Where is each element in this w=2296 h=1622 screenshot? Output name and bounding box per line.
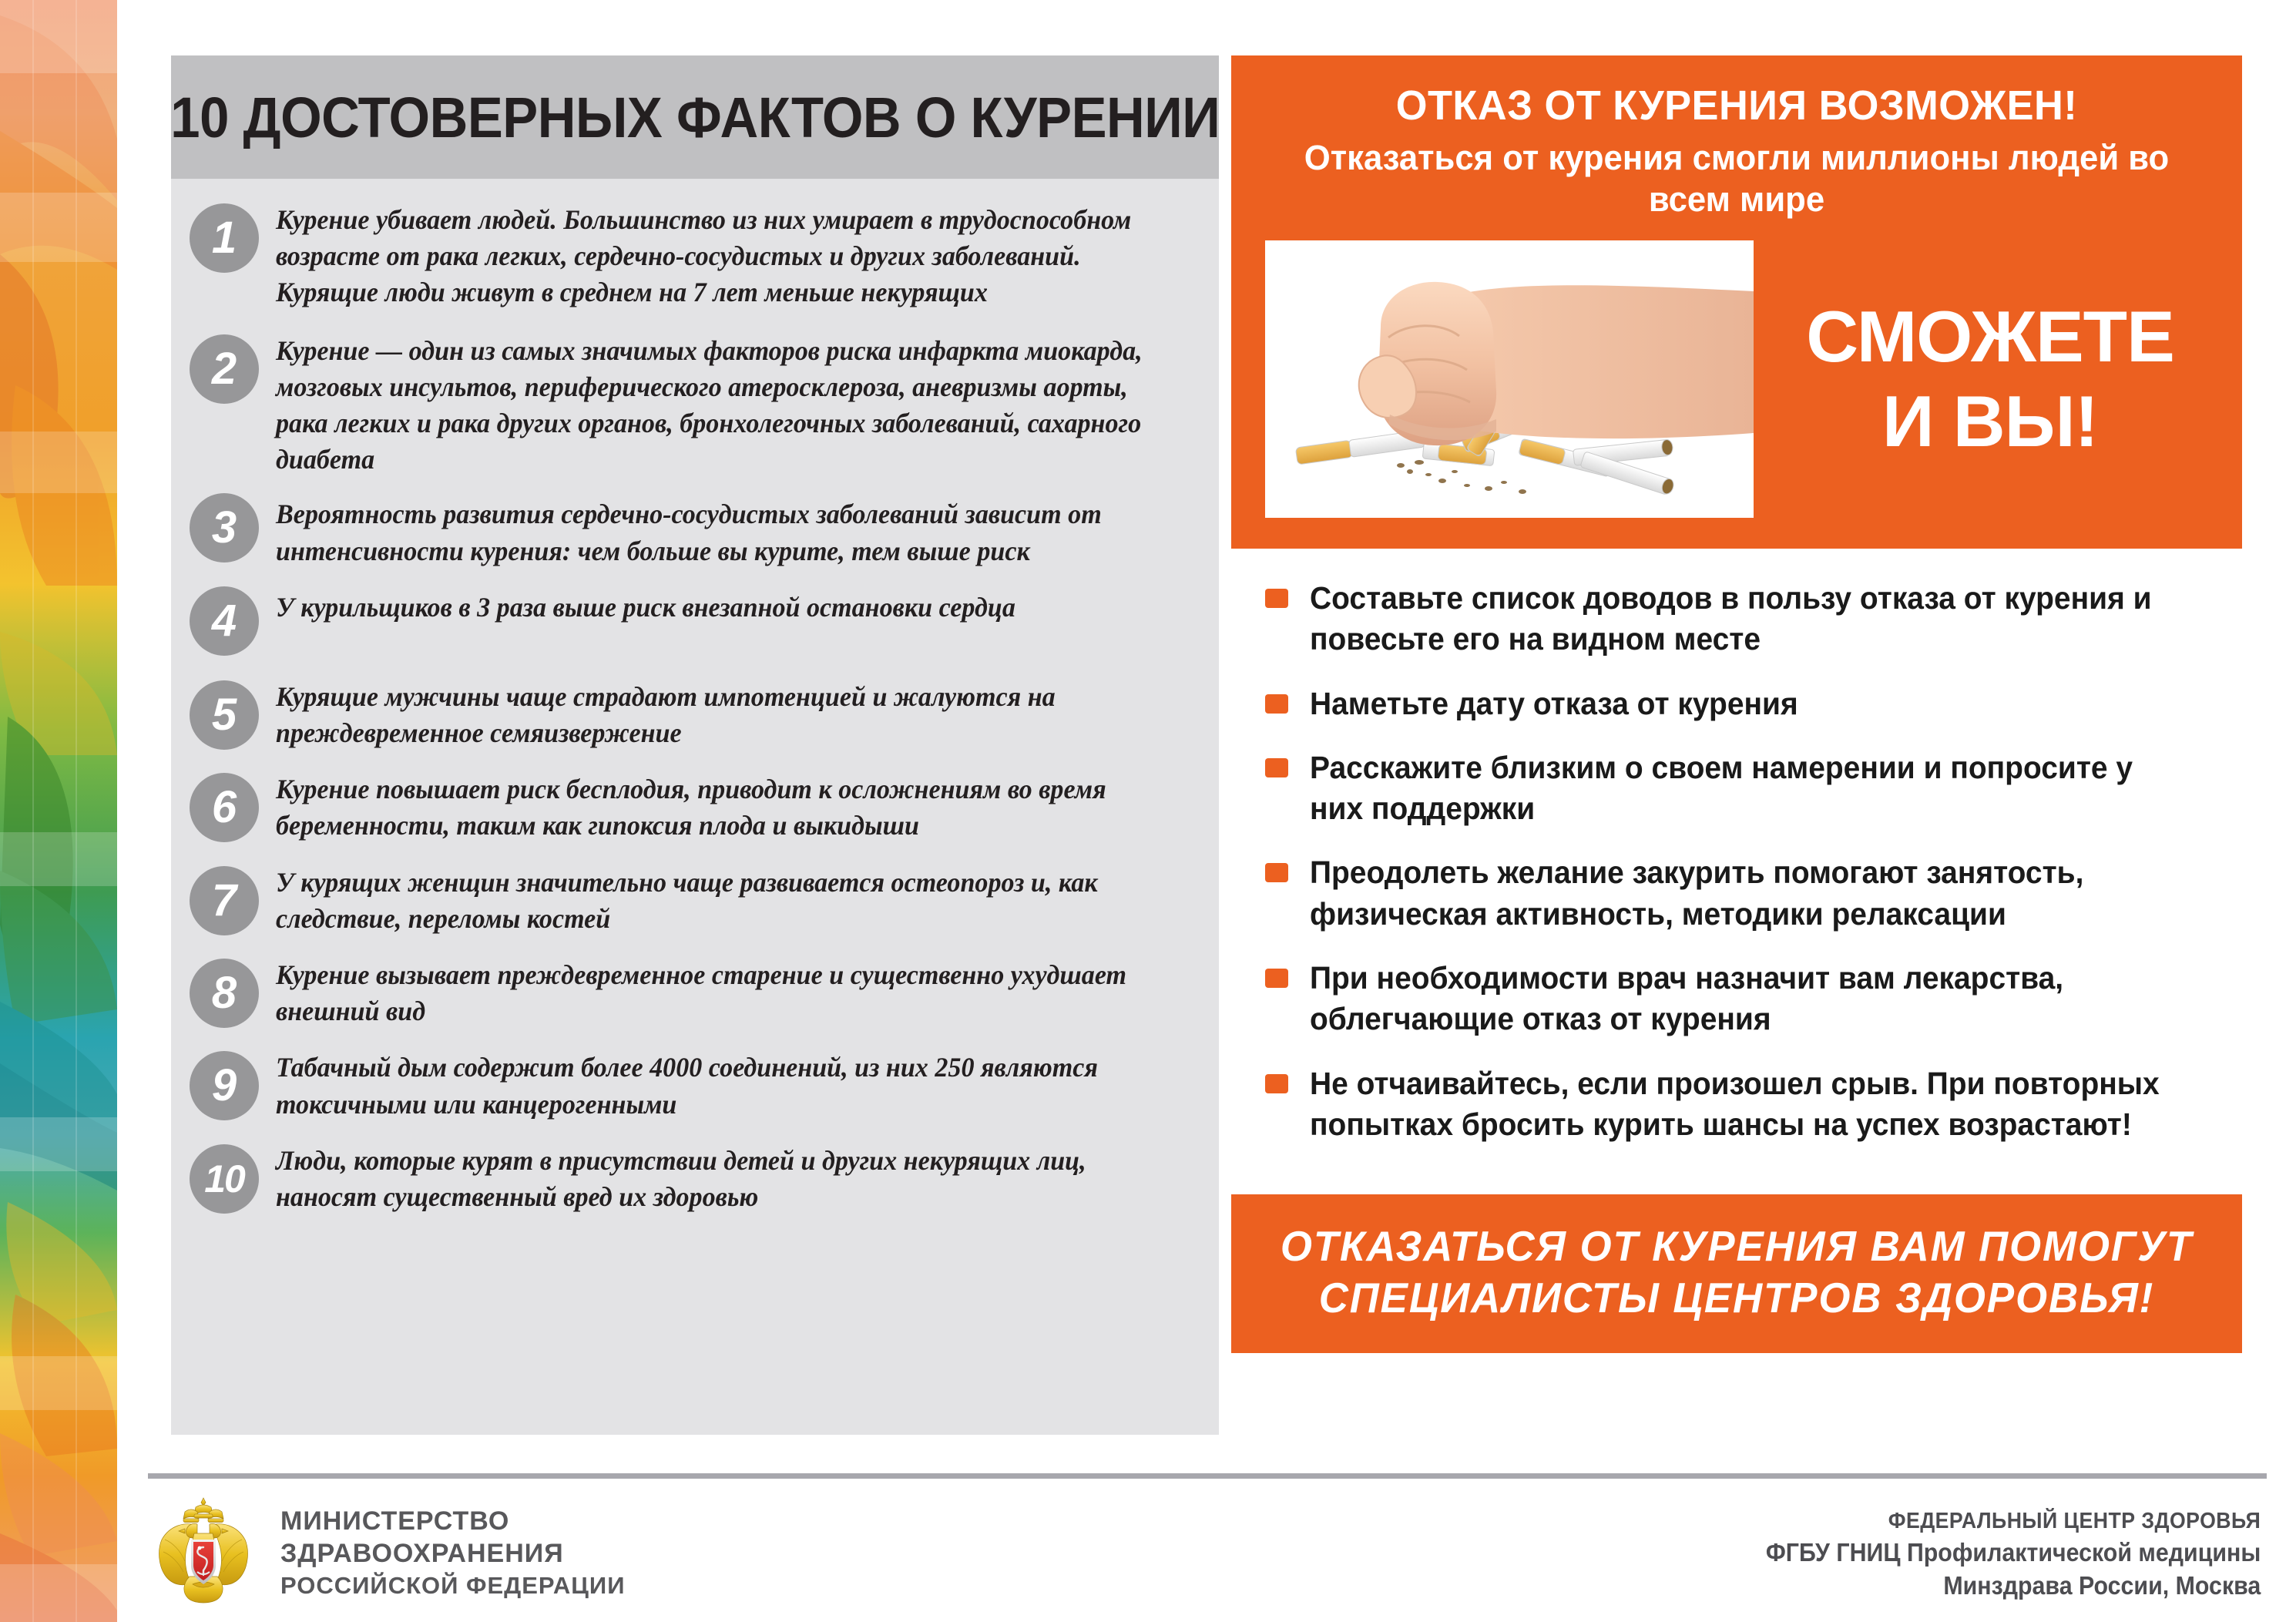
fact-text: У курильщиков в 3 раза выше риск внезапн…: [276, 586, 1147, 626]
fact-number-badge: 5: [190, 680, 259, 750]
fact-text: Курение вызывает преждевременное старени…: [276, 954, 1147, 1029]
fact-number-badge: 4: [190, 586, 259, 656]
center-line3: Минздрава России, Москва: [1766, 1570, 2261, 1603]
fact-number-badge: 2: [190, 334, 259, 404]
cta-line2: СПЕЦИАЛИСТЫ ЦЕНТРОВ ЗДОРОВЬЯ!: [1274, 1272, 2200, 1324]
hero-slogan-line1: СМОЖЕТЕ: [1806, 301, 2174, 373]
tips-list: Составьте список доводов в пользу отказа…: [1231, 549, 2242, 1187]
health-center-credit: ФЕДЕРАЛЬНЫЙ ЦЕНТР ЗДОРОВЬЯ ФГБУ ГНИЦ Про…: [1723, 1507, 2261, 1602]
fist-crushing-cigarettes-photo: [1265, 240, 1754, 518]
ministry-line1: МИНИСТЕРСТВО: [280, 1505, 625, 1538]
fact-number-badge: 7: [190, 866, 259, 935]
russian-coat-of-arms-icon: [154, 1495, 253, 1610]
fact-number-badge: 6: [190, 773, 259, 842]
tip-text: Наметьте дату отказа от курения: [1310, 683, 2173, 724]
fact-number-badge: 8: [190, 959, 259, 1028]
bullet-square-icon: [1265, 589, 1288, 608]
cta-banner: ОТКАЗАТЬСЯ ОТ КУРЕНИЯ ВАМ ПОМОГУТ СПЕЦИА…: [1231, 1194, 2242, 1353]
facts-panel-header: 10 ДОСТОВЕРНЫХ ФАКТОВ О КУРЕНИИ: [171, 55, 1219, 179]
hero-slogan: СМОЖЕТЕ И ВЫ!: [1754, 240, 2242, 518]
fact-item: 5 Курящие мужчины чаще страдают импотенц…: [190, 676, 1183, 751]
page-title: 10 ДОСТОВЕРНЫХ ФАКТОВ О КУРЕНИИ: [170, 85, 1220, 150]
quit-headline: ОТКАЗ ОТ КУРЕНИЯ ВОЗМОЖЕН!: [1247, 82, 2227, 129]
facts-list: 1 Курение убивает людей. Большинство из …: [171, 179, 1219, 1435]
fact-item: 6 Курение повышает риск бесплодия, приво…: [190, 768, 1183, 844]
fact-text: Люди, которые курят в присутствии детей …: [276, 1140, 1147, 1215]
center-line2: ФГБУ ГНИЦ Профилактической медицины: [1766, 1536, 2261, 1570]
bullet-square-icon: [1265, 694, 1288, 714]
fact-number-badge: 3: [190, 493, 259, 562]
fact-item: 10 Люди, которые курят в присутствии дет…: [190, 1140, 1183, 1215]
right-column: ОТКАЗ ОТ КУРЕНИЯ ВОЗМОЖЕН! Отказаться от…: [1231, 55, 2242, 1353]
fact-item: 8 Курение вызывает преждевременное старе…: [190, 954, 1183, 1029]
fact-text: Курение — один из самых значимых факторо…: [276, 330, 1147, 479]
tip-item: Наметьте дату отказа от курения: [1265, 683, 2219, 724]
tip-text: Расскажите близким о своем намерении и п…: [1310, 747, 2173, 830]
bullet-square-icon: [1265, 863, 1288, 882]
quit-subheadline: Отказаться от курения смогли миллионы лю…: [1247, 137, 2227, 220]
fact-text: У курящих женщин значительно чаще развив…: [276, 861, 1147, 937]
ministry-line3: РОССИЙСКОЙ ФЕДЕРАЦИИ: [280, 1570, 625, 1600]
footer: МИНИСТЕРСТВО ЗДРАВООХРАНЕНИЯ РОССИЙСКОЙ …: [117, 1495, 2296, 1622]
bullet-square-icon: [1265, 1074, 1288, 1093]
footer-divider: [148, 1473, 2267, 1479]
tip-item: Расскажите близким о своем намерении и п…: [1265, 747, 2219, 830]
center-line1: ФЕДЕРАЛЬНЫЙ ЦЕНТР ЗДОРОВЬЯ: [1766, 1507, 2261, 1536]
poster-page: 10 ДОСТОВЕРНЫХ ФАКТОВ О КУРЕНИИ 1 Курени…: [117, 0, 2296, 1622]
hero-slogan-line2: И ВЫ!: [1882, 385, 2098, 458]
fact-item: 2 Курение — один из самых значимых факто…: [190, 330, 1183, 479]
fact-text: Курение повышает риск бесплодия, приводи…: [276, 768, 1147, 844]
fact-text: Курящие мужчины чаще страдают импотенцие…: [276, 676, 1147, 751]
ministry-block: МИНИСТЕРСТВО ЗДРАВООХРАНЕНИЯ РОССИЙСКОЙ …: [154, 1495, 625, 1610]
tip-text: При необходимости врач назначит вам лека…: [1310, 958, 2173, 1040]
cta-line1: ОТКАЗАТЬСЯ ОТ КУРЕНИЯ ВАМ ПОМОГУТ: [1274, 1221, 2200, 1272]
hero-media: СМОЖЕТЕ И ВЫ!: [1231, 240, 2242, 518]
fact-item: 9 Табачный дым содержит более 4000 соеди…: [190, 1046, 1183, 1122]
decorative-edge-band: [0, 0, 117, 1622]
fact-item: 1 Курение убивает людей. Большинство из …: [190, 199, 1183, 311]
bullet-square-icon: [1265, 969, 1288, 988]
fact-number-badge: 9: [190, 1051, 259, 1120]
tip-text: Составьте список доводов в пользу отказа…: [1310, 578, 2173, 660]
fact-number-badge: 1: [190, 203, 259, 273]
fact-text: Вероятность развития сердечно-сосудистых…: [276, 493, 1147, 569]
fact-item: 7 У курящих женщин значительно чаще разв…: [190, 861, 1183, 937]
fact-item: 3 Вероятность развития сердечно-сосудист…: [190, 493, 1183, 569]
tip-text: Не отчаивайтесь, если произошел срыв. Пр…: [1310, 1063, 2173, 1146]
fact-text: Курение убивает людей. Большинство из ни…: [276, 199, 1147, 311]
bullet-square-icon: [1265, 758, 1288, 777]
ministry-line2: ЗДРАВООХРАНЕНИЯ: [280, 1537, 625, 1570]
ministry-name: МИНИСТЕРСТВО ЗДРАВООХРАНЕНИЯ РОССИЙСКОЙ …: [280, 1505, 625, 1601]
facts-panel: 10 ДОСТОВЕРНЫХ ФАКТОВ О КУРЕНИИ 1 Курени…: [171, 55, 1219, 1435]
fact-text: Табачный дым содержит более 4000 соедине…: [276, 1046, 1147, 1122]
tip-item: При необходимости врач назначит вам лека…: [1265, 958, 2219, 1040]
fact-number-badge: 10: [190, 1144, 259, 1214]
tip-item: Составьте список доводов в пользу отказа…: [1265, 578, 2219, 660]
tip-item: Не отчаивайтесь, если произошел срыв. Пр…: [1265, 1063, 2219, 1146]
fact-item: 4 У курильщиков в 3 раза выше риск внеза…: [190, 586, 1183, 656]
quit-hero-panel: ОТКАЗ ОТ КУРЕНИЯ ВОЗМОЖЕН! Отказаться от…: [1231, 55, 2242, 549]
tip-item: Преодолеть желание закурить помогают зан…: [1265, 852, 2219, 935]
tip-text: Преодолеть желание закурить помогают зан…: [1310, 852, 2173, 935]
